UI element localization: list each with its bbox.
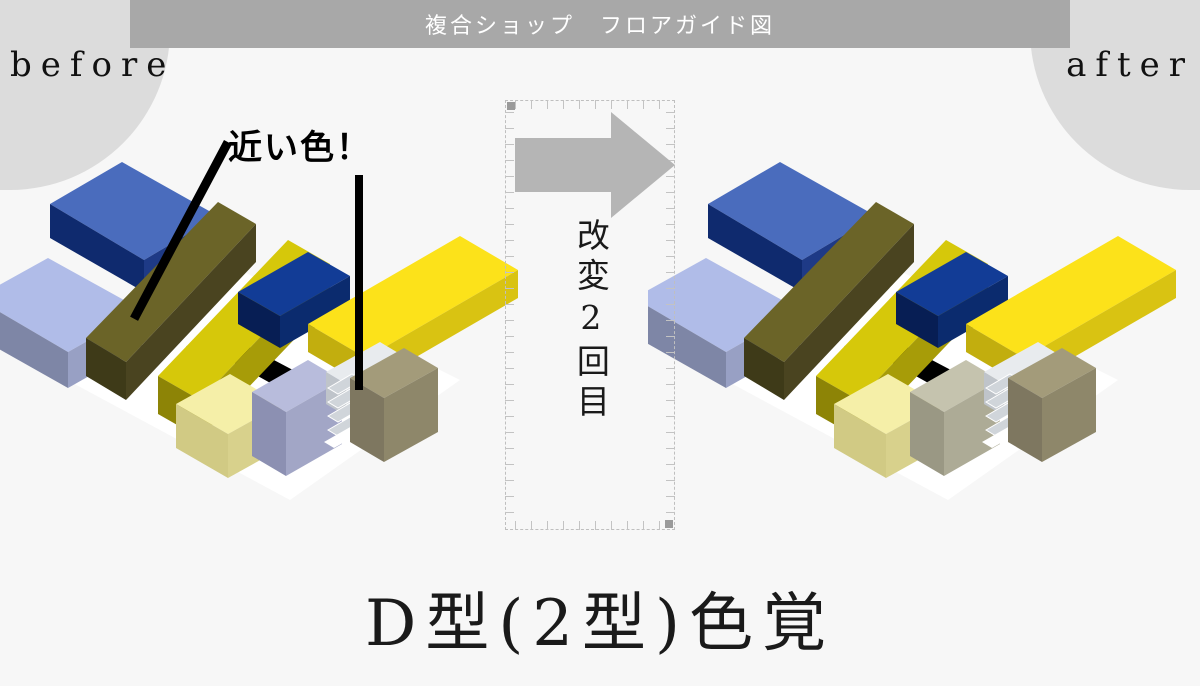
annotation-pointer-line-2 — [355, 175, 363, 390]
before-label: before — [10, 48, 175, 82]
transition-indicator: 改変2回目 — [505, 100, 675, 530]
banner-title: 複合ショップ フロアガイド図 — [425, 8, 775, 40]
floor-plan-after — [648, 150, 1200, 530]
page-title: D型(2型)色覚 — [0, 572, 1200, 664]
screenshot-canvas: 複合ショップ フロアガイド図 before after — [0, 0, 1200, 686]
header-banner: 複合ショップ フロアガイド図 — [130, 0, 1070, 48]
floor-plan-after-svg — [648, 150, 1200, 530]
transition-caption: 改変2回目 — [573, 218, 608, 424]
arrow-right-icon — [515, 110, 675, 220]
annotation-label: 近い色！ — [228, 120, 372, 169]
after-label: after — [1066, 48, 1194, 82]
floor-plan-before — [0, 150, 550, 530]
floor-plan-before-svg — [0, 150, 550, 530]
